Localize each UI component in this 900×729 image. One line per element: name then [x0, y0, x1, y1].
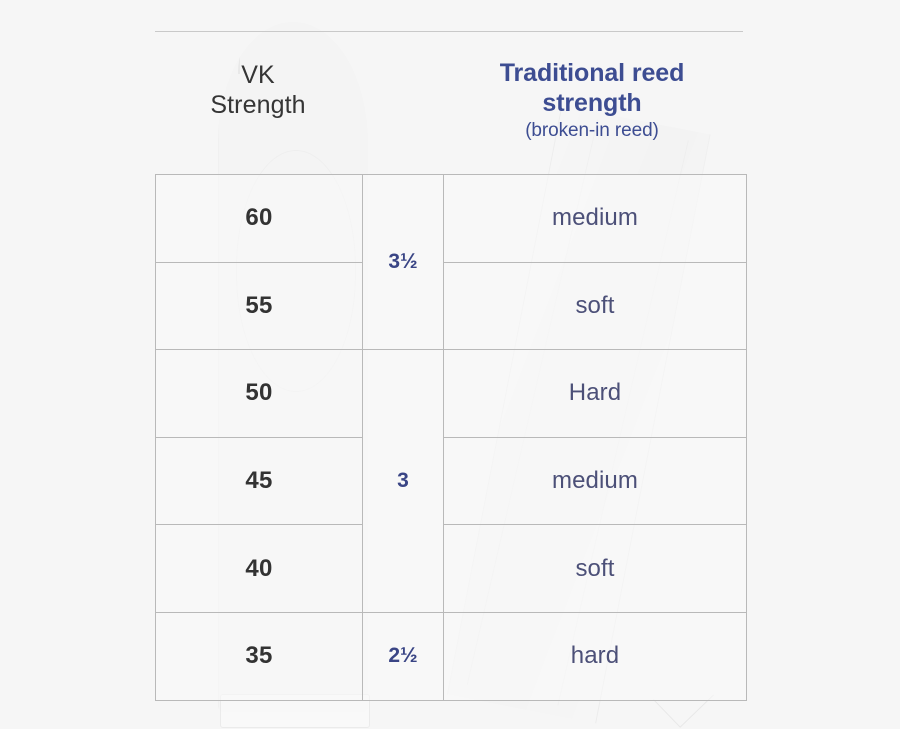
table-row: 45medium: [156, 437, 747, 525]
cell-vk-strength: 40: [156, 525, 363, 613]
header-spacer: [361, 52, 441, 162]
header-traditional-line1: Traditional reed: [441, 58, 743, 88]
table-body: 603½medium55soft503Hard45medium40soft352…: [156, 175, 747, 701]
cell-description: Hard: [444, 350, 747, 438]
cell-vk-strength: 50: [156, 350, 363, 438]
cell-traditional-strength: 2½: [363, 612, 444, 700]
table-headers: VK Strength Traditional reed strength (b…: [155, 52, 743, 162]
cell-description: hard: [444, 612, 747, 700]
header-vk-strength-line1: VK: [155, 60, 361, 90]
header-traditional-subtitle: (broken-in reed): [441, 118, 743, 144]
cell-description: soft: [444, 262, 747, 350]
cell-description: medium: [444, 175, 747, 263]
cell-traditional-strength: 3: [363, 350, 444, 613]
cell-description: soft: [444, 525, 747, 613]
cell-vk-strength: 35: [156, 612, 363, 700]
table-row: 55soft: [156, 262, 747, 350]
cell-vk-strength: 55: [156, 262, 363, 350]
table-row: 503Hard: [156, 350, 747, 438]
cell-description: medium: [444, 437, 747, 525]
cell-vk-strength: 60: [156, 175, 363, 263]
header-traditional-reed-strength: Traditional reed strength (broken-in ree…: [441, 52, 743, 162]
table-row: 603½medium: [156, 175, 747, 263]
table-row: 40soft: [156, 525, 747, 613]
header-vk-strength-line2: Strength: [155, 90, 361, 120]
header-vk-strength: VK Strength: [155, 52, 361, 162]
top-divider-rule: [155, 31, 743, 32]
reed-strength-table: 603½medium55soft503Hard45medium40soft352…: [155, 174, 747, 701]
table-row: 352½hard: [156, 612, 747, 700]
cell-vk-strength: 45: [156, 437, 363, 525]
cell-traditional-strength: 3½: [363, 175, 444, 350]
header-traditional-line2: strength: [441, 88, 743, 118]
